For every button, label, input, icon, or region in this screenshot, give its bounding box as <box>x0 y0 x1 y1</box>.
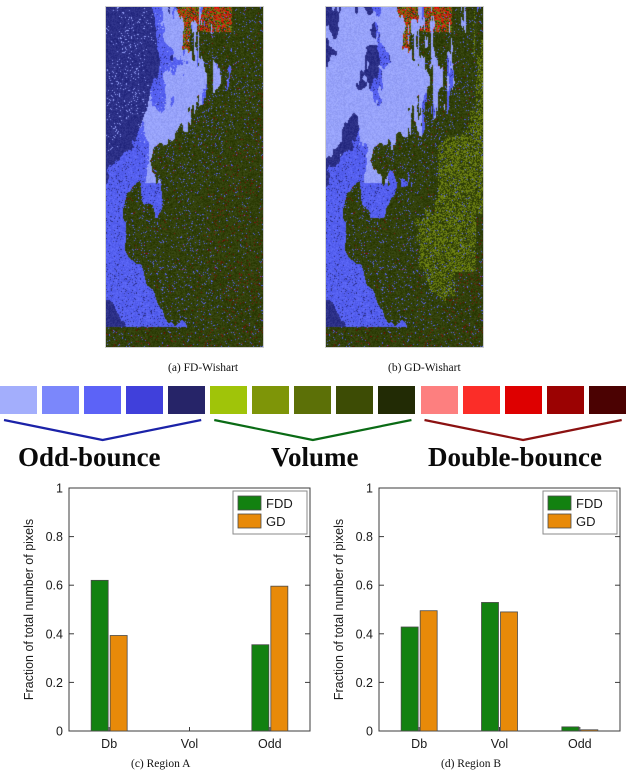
colour-swatch-double-14 <box>547 386 584 414</box>
colour-swatch-volume-9 <box>336 386 373 414</box>
colour-swatch-double-11 <box>421 386 458 414</box>
y-tick-label-d-1: 0.2 <box>356 676 373 690</box>
bar-d-vol-fdd <box>482 602 499 731</box>
y-tick-label-d-5: 1 <box>366 483 373 496</box>
colour-swatch-odd-5 <box>168 386 205 414</box>
bar-chart-region-b: 00.20.40.60.81DbVolOddFraction of total … <box>320 483 630 777</box>
y-tick-label-c-3: 0.6 <box>46 579 63 593</box>
caption-panel-a: (a) FD-Wishart <box>168 362 238 374</box>
class-label-odd-bounce: Odd-bounce <box>18 442 161 473</box>
bar-c-odd-fdd <box>252 645 269 731</box>
sar-canvas-b <box>326 7 483 347</box>
y-axis-label-c: Fraction of total number of pixels <box>22 519 36 700</box>
colour-swatch-odd-2 <box>42 386 79 414</box>
bar-d-vol-gd <box>501 612 518 731</box>
colour-swatch-odd-4 <box>126 386 163 414</box>
caption-panel-d: (d) Region B <box>441 758 501 770</box>
y-tick-label-d-0: 0 <box>366 725 373 739</box>
colour-swatch-volume-7 <box>252 386 289 414</box>
legend-swatch-c-gd <box>238 514 261 528</box>
x-tick-label-d-2: Odd <box>568 737 592 751</box>
y-tick-label-c-4: 0.8 <box>46 530 63 544</box>
sar-canvas-a <box>106 7 263 347</box>
sar-image-gd-wishart <box>325 6 484 348</box>
class-label-volume: Volume <box>271 442 359 473</box>
colour-swatch-volume-10 <box>378 386 415 414</box>
y-tick-label-c-5: 1 <box>56 483 63 496</box>
legend-swatch-c-fdd <box>238 496 261 510</box>
bracket-double-bounce <box>425 420 622 440</box>
legend-label-d-gd: GD <box>576 514 596 529</box>
bracket-odd-bounce <box>4 420 201 440</box>
colour-swatch-odd-3 <box>84 386 121 414</box>
bar-d-odd-fdd <box>562 727 579 731</box>
bar-c-db-gd <box>110 636 127 731</box>
bar-c-db-fdd <box>91 580 108 731</box>
x-tick-label-c-1: Vol <box>181 737 198 751</box>
bar-c-odd-gd <box>271 586 288 731</box>
y-tick-label-c-2: 0.4 <box>46 627 63 641</box>
chart-svg-c: 00.20.40.60.81DbVolOddFraction of total … <box>10 483 320 777</box>
legend-swatch-d-fdd <box>548 496 571 510</box>
colour-swatch-volume-6 <box>210 386 247 414</box>
bar-d-odd-gd <box>581 730 598 731</box>
class-label-double-bounce: Double-bounce <box>428 442 602 473</box>
sar-image-fd-wishart <box>105 6 264 348</box>
y-tick-label-c-0: 0 <box>56 725 63 739</box>
x-tick-label-d-0: Db <box>411 737 427 751</box>
colour-swatch-double-13 <box>505 386 542 414</box>
x-tick-label-c-2: Odd <box>258 737 282 751</box>
bar-d-db-gd <box>420 611 437 731</box>
class-label-row: Odd-bounce Volume Double-bounce <box>0 442 640 478</box>
y-tick-label-d-4: 0.8 <box>356 530 373 544</box>
y-tick-label-c-1: 0.2 <box>46 676 63 690</box>
class-colour-legend-strip <box>0 386 640 414</box>
colour-swatch-double-12 <box>463 386 500 414</box>
colour-swatch-odd-1 <box>0 386 37 414</box>
legend-swatch-d-gd <box>548 514 571 528</box>
colour-swatch-volume-8 <box>294 386 331 414</box>
chart-svg-d: 00.20.40.60.81DbVolOddFraction of total … <box>320 483 630 777</box>
sar-image-row <box>0 0 640 352</box>
legend-label-c-fdd: FDD <box>266 496 293 511</box>
y-axis-label-d: Fraction of total number of pixels <box>332 519 346 700</box>
y-tick-label-d-2: 0.4 <box>356 627 373 641</box>
bar-d-db-fdd <box>401 627 418 731</box>
caption-panel-c: (c) Region A <box>131 758 190 770</box>
caption-panel-b: (b) GD-Wishart <box>388 362 461 374</box>
y-tick-label-d-3: 0.6 <box>356 579 373 593</box>
colour-swatch-double-15 <box>589 386 626 414</box>
legend-label-c-gd: GD <box>266 514 286 529</box>
bar-chart-region-a: 00.20.40.60.81DbVolOddFraction of total … <box>10 483 320 777</box>
legend-label-d-fdd: FDD <box>576 496 603 511</box>
x-tick-label-d-1: Vol <box>491 737 508 751</box>
x-tick-label-c-0: Db <box>101 737 117 751</box>
bracket-volume <box>214 420 411 440</box>
